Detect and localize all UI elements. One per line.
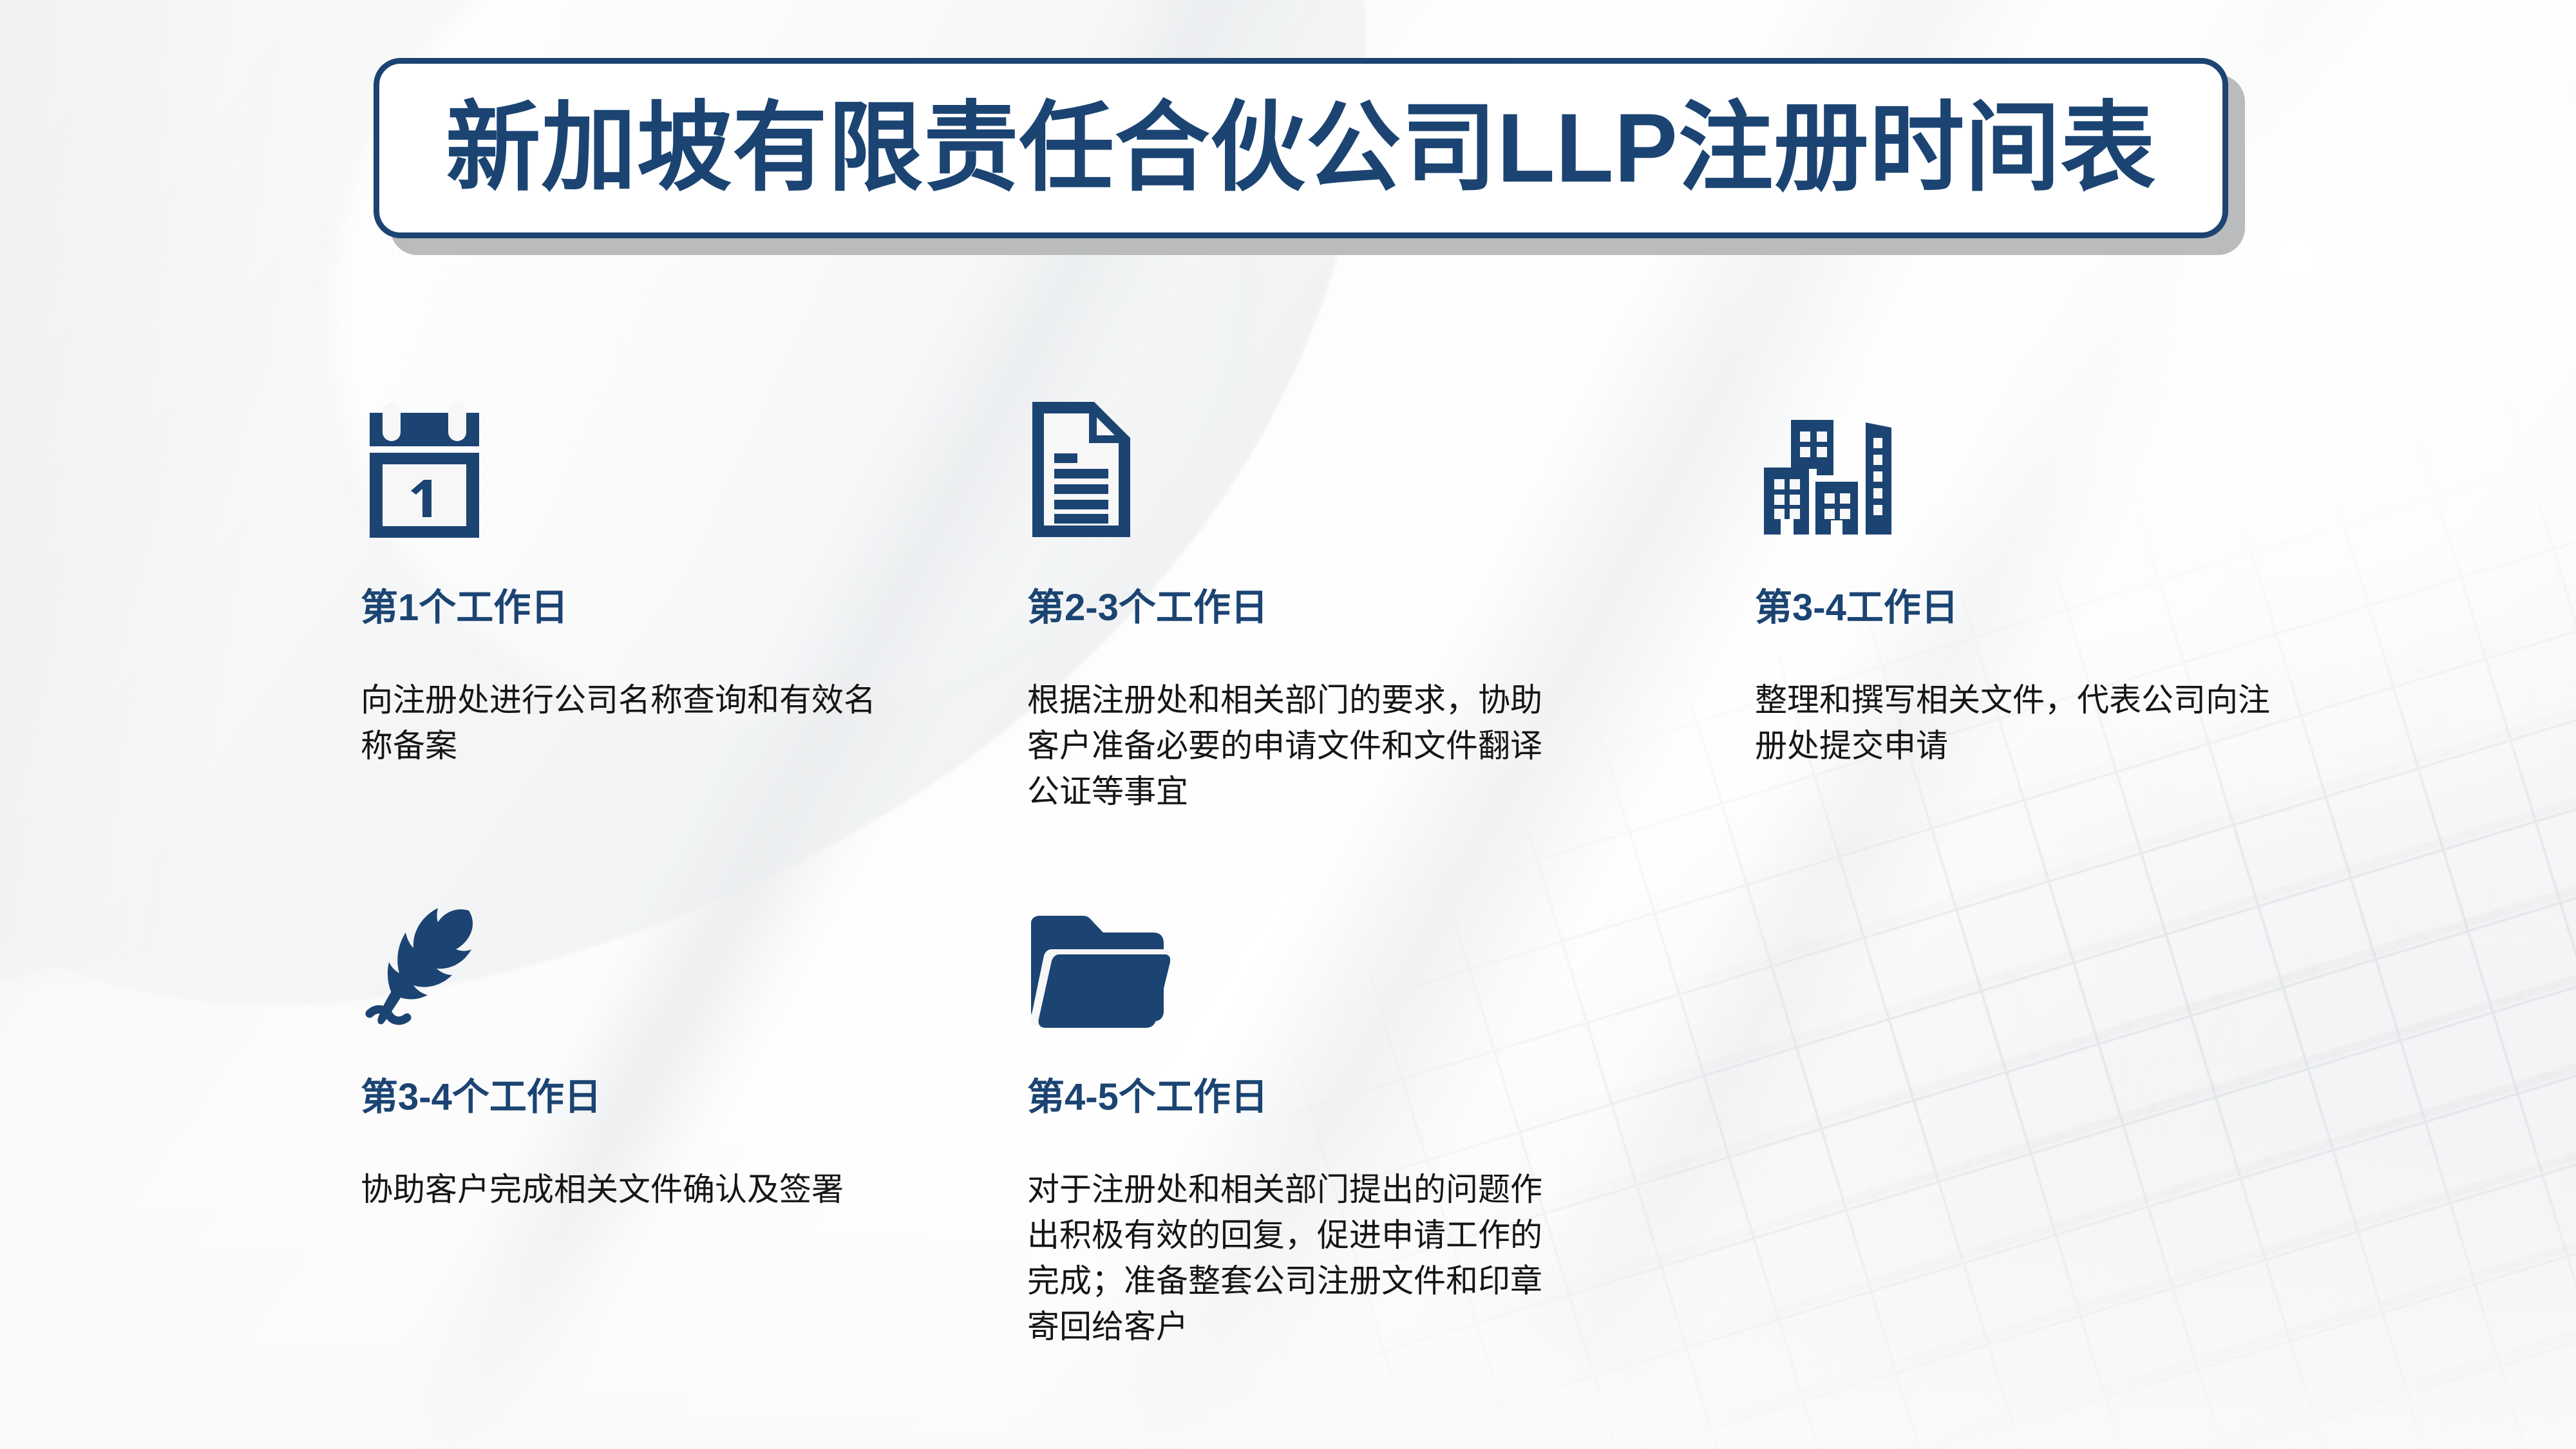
- step-1-heading: 第1个工作日: [361, 587, 1005, 629]
- slide-canvas: 新加坡有限责任合伙公司LLP注册时间表 第1个工作日: [0, 0, 2576, 1449]
- step-5-body: 对于注册处和相关部门提出的问题作出积极有效的回复，促进申请工作的完成；准备整套公…: [1027, 1167, 1562, 1350]
- step-card-5: 第4-5个工作日 对于注册处和相关部门提出的问题作出积极有效的回复，促进申请工作…: [1027, 876, 1671, 1350]
- step-5-icon-slot: [1027, 876, 1671, 1030]
- step-3-icon-slot: [1755, 386, 2399, 541]
- calendar-icon: [361, 402, 488, 541]
- step-card-4: 第3-4个工作日 协助客户完成相关文件确认及签署: [361, 876, 1005, 1213]
- document-icon: [1027, 398, 1135, 541]
- buildings-icon: [1755, 404, 1891, 541]
- step-3-heading: 第3-4工作日: [1755, 587, 2399, 629]
- title-box: 新加坡有限责任合伙公司LLP注册时间表: [374, 58, 2228, 238]
- step-1-icon-slot: [361, 386, 1005, 541]
- step-4-icon-slot: [361, 876, 1005, 1030]
- step-card-2: 第2-3个工作日 根据注册处和相关部门的要求，协助客户准备必要的申请文件和文件翻…: [1027, 386, 1671, 815]
- feather-pen-icon: [361, 887, 477, 1030]
- step-3-body: 整理和撰写相关文件，代表公司向注册处提交申请: [1755, 677, 2270, 769]
- step-card-3: 第3-4工作日 整理和撰写相关文件，代表公司向注册处提交申请: [1755, 386, 2399, 769]
- step-card-1: 第1个工作日 向注册处进行公司名称查询和有效名称备案: [361, 386, 1005, 769]
- step-2-body: 根据注册处和相关部门的要求，协助客户准备必要的申请文件和文件翻译公证等事宜: [1027, 677, 1542, 815]
- step-1-body: 向注册处进行公司名称查询和有效名称备案: [361, 677, 876, 769]
- step-4-heading: 第3-4个工作日: [361, 1077, 1005, 1118]
- page-title: 新加坡有限责任合伙公司LLP注册时间表: [374, 58, 2228, 238]
- open-folder-icon: [1027, 914, 1170, 1030]
- step-5-heading: 第4-5个工作日: [1027, 1077, 1671, 1118]
- step-2-heading: 第2-3个工作日: [1027, 587, 1671, 629]
- step-2-icon-slot: [1027, 386, 1671, 541]
- step-4-body: 协助客户完成相关文件确认及签署: [361, 1167, 876, 1213]
- title-text: 新加坡有限责任合伙公司LLP注册时间表: [446, 99, 2156, 197]
